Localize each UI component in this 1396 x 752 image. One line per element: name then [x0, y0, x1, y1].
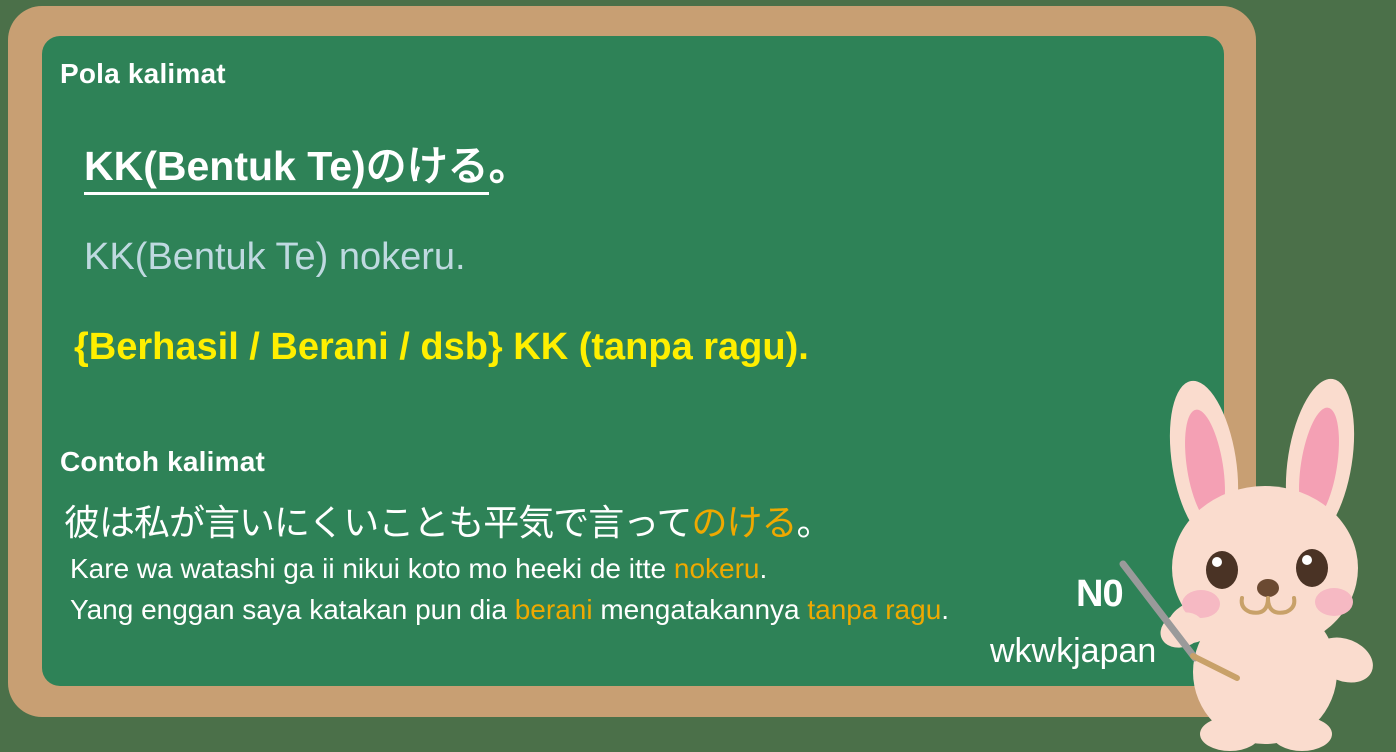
example-id-seg2: mengatakannya	[593, 594, 808, 625]
example-indonesian-sentence: Yang enggan saya katakan pun dia berani …	[70, 594, 949, 626]
rabbit-left-eye	[1206, 551, 1238, 589]
example-romaji-highlight: nokeru	[674, 553, 760, 584]
example-id-highlight-1: berani	[515, 594, 593, 625]
rabbit-left-eye-glint	[1212, 557, 1222, 567]
example-id-highlight-2: tanpa ragu	[807, 594, 941, 625]
example-romaji-sentence: Kare wa watashi ga ii nikui koto mo heek…	[70, 553, 767, 585]
example-jp-highlight: のける	[691, 502, 796, 543]
pattern-meaning-text: {Berhasil / Berani / dsb} KK (tanpa ragu…	[74, 326, 809, 369]
example-japanese-sentence: 彼は私が言いにくいことも平気で言ってのける。	[64, 494, 832, 546]
pattern-romaji-text: KK(Bentuk Te) nokeru.	[84, 236, 466, 279]
example-romaji-plain-before: Kare wa watashi ga ii nikui koto mo heek…	[70, 553, 674, 584]
rabbit-nose	[1257, 579, 1279, 597]
rabbit-right-eye	[1296, 549, 1328, 587]
rabbit-left-foot	[1200, 717, 1260, 751]
pattern-section-heading: Pola kalimat	[60, 58, 226, 90]
example-id-seg3: .	[941, 594, 949, 625]
example-section-heading: Contoh kalimat	[60, 446, 265, 478]
pattern-main-underlined: KK(Bentuk Te)のける	[84, 143, 489, 195]
chalkboard-surface: Pola kalimat KK(Bentuk Te)のける。 KK(Bentuk…	[42, 36, 1224, 686]
pattern-main-text: KK(Bentuk Te)のける。	[84, 132, 530, 192]
rabbit-right-eye-glint	[1302, 555, 1312, 565]
rabbit-right-foot	[1272, 717, 1332, 751]
rabbit-mascot	[1122, 372, 1396, 752]
jlpt-level-badge: N0	[1076, 573, 1123, 616]
example-romaji-plain-after: .	[760, 553, 768, 584]
pattern-main-period: 。	[489, 143, 530, 189]
chalkboard-frame: Pola kalimat KK(Bentuk Te)のける。 KK(Bentuk…	[8, 6, 1256, 717]
rabbit-right-cheek	[1315, 588, 1353, 616]
example-jp-plain-after: 。	[797, 502, 832, 543]
example-id-seg1: Yang enggan saya katakan pun dia	[70, 594, 515, 625]
example-jp-plain-before: 彼は私が言いにくいことも平気で言って	[64, 502, 691, 543]
